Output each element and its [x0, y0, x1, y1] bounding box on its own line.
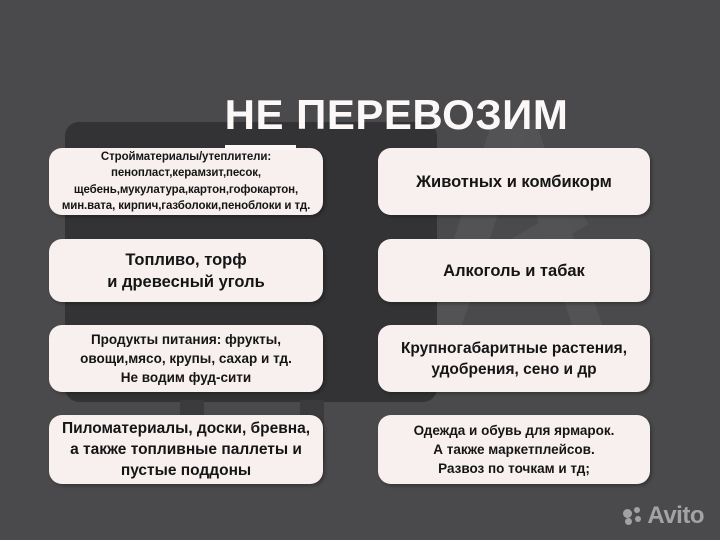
card-oversized-plants-text: Крупногабаритные растения, удобрения, се…: [386, 338, 642, 380]
card-fuel-peat-charcoal-text: Топливо, торф и древесный уголь: [57, 249, 315, 293]
page-title: НЕ ПЕРЕВОЗИМ: [0, 52, 720, 178]
card-clothes-shoes: Одежда и обувь для ярмарок. А также марк…: [378, 415, 650, 484]
card-oversized-plants: Крупногабаритные растения, удобрения, се…: [378, 325, 650, 392]
card-fuel-peat-charcoal: Топливо, торф и древесный уголь: [49, 239, 323, 302]
page-title-main-part: ПЕРЕВОЗИМ: [296, 91, 568, 138]
card-alcohol-tobacco: Алкоголь и табак: [378, 239, 650, 302]
page-title-underlined-part: НЕ: [225, 91, 297, 150]
avito-wordmark: Avito: [647, 504, 704, 528]
card-lumber-pallets: Пиломатериалы, доски, бревна, а также то…: [49, 415, 323, 484]
avito-logo-icon: [623, 507, 643, 525]
card-clothes-shoes-text: Одежда и обувь для ярмарок. А также марк…: [386, 421, 642, 478]
card-food-products: Продукты питания: фрукты, овощи,мясо, кр…: [49, 325, 323, 392]
poster-canvas: НЕ ПЕРЕВОЗИМ Стройматериалы/утеплители: …: [0, 0, 720, 540]
card-alcohol-tobacco-text: Алкоголь и табак: [386, 260, 642, 282]
avito-watermark: Avito: [623, 504, 704, 528]
card-food-products-text: Продукты питания: фрукты, овощи,мясо, кр…: [57, 330, 315, 387]
card-lumber-pallets-text: Пиломатериалы, доски, бревна, а также то…: [57, 418, 315, 481]
